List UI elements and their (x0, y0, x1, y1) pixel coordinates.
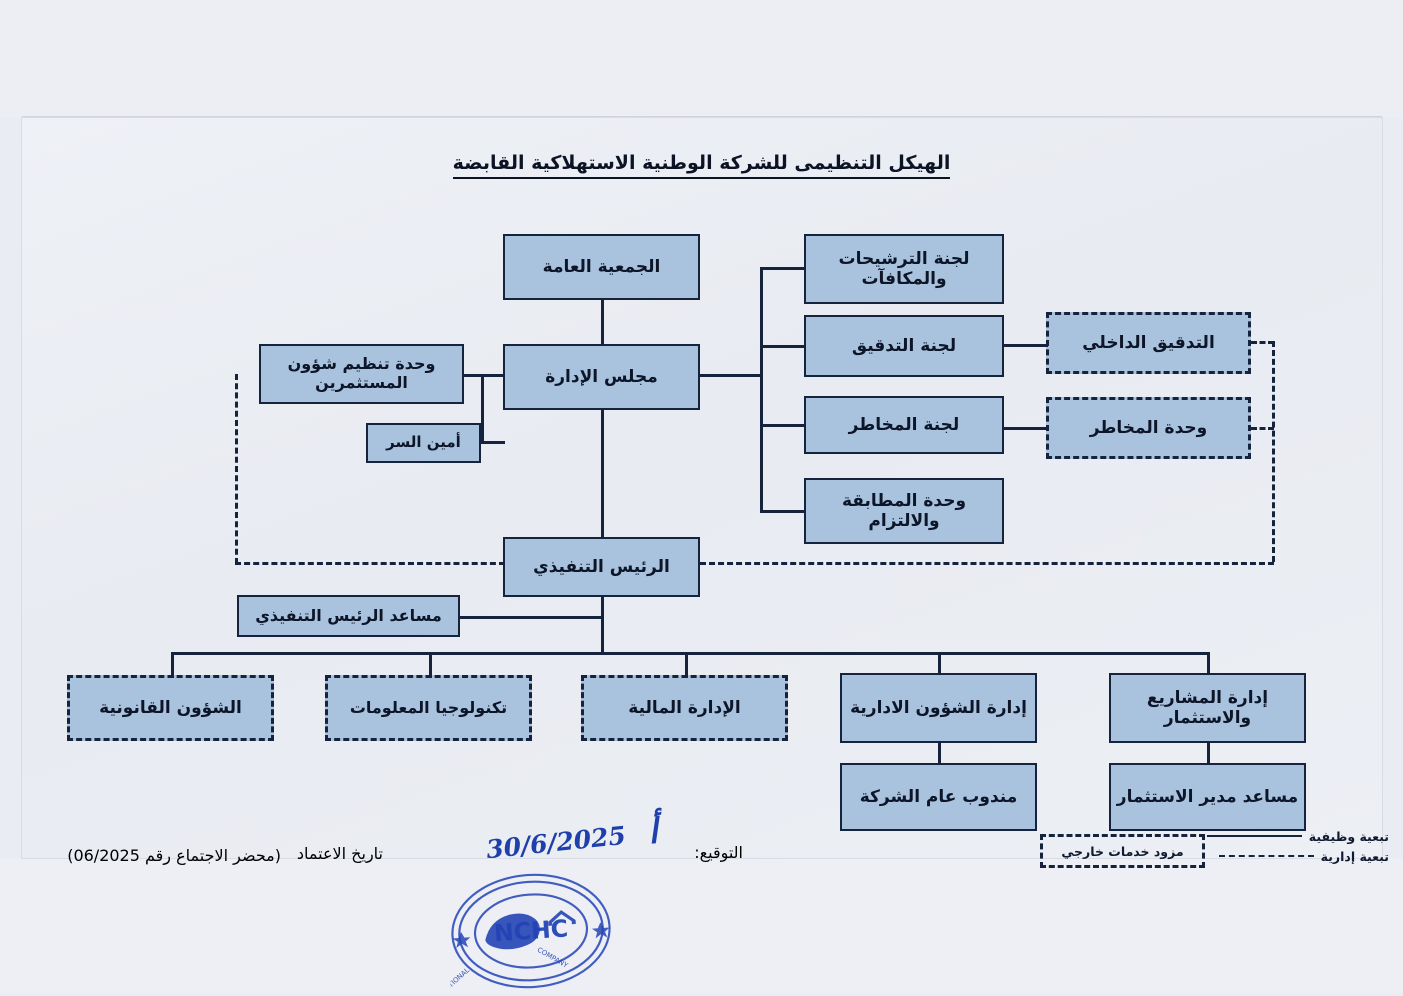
footer-minutes-reference: (محضر الاجتماع رقم 06/2025) (67, 846, 281, 865)
node-label: إدارة المشاريع والاستثمار (1115, 688, 1300, 728)
legend-external-provider-box: مزود خدمات خارجي (1040, 834, 1205, 868)
node-deputy-ceo[interactable]: مساعد الرئيس التنفيذي (237, 595, 460, 637)
node-administrative-affairs[interactable]: إدارة الشؤون الادارية (840, 673, 1037, 743)
node-label: وحدة تنظيم شؤون المستثمرين (265, 355, 458, 393)
connector-ga-to-board (601, 300, 604, 344)
node-finance-department[interactable]: الإدارة المالية (581, 675, 788, 741)
connector-board-secretary-horz (481, 441, 505, 444)
footer-approval-date-label: تاريخ الاعتماد (297, 844, 383, 863)
connector-board-to-investor-unit (464, 374, 505, 377)
connector-to-compliance-unit (760, 510, 806, 513)
node-audit-committee[interactable]: لجنة التدقيق (804, 315, 1004, 377)
connector-to-risk-committee (760, 424, 806, 427)
connector-drop-projects (1207, 652, 1210, 675)
node-nominations-committee[interactable]: لجنة الترشيحات والمكافآت (804, 234, 1004, 304)
legend: تبعية وظيفية تبعية إدارية (1189, 826, 1389, 866)
node-label: مساعد الرئيس التنفيذي (243, 607, 454, 626)
page-title: الهيكل التنظيمى للشركة الوطنية الاستهلاك… (0, 152, 1403, 174)
legend-row-functional: تبعية وظيفية (1189, 826, 1389, 846)
legend-label-functional: تبعية وظيفية (1309, 829, 1389, 844)
connector-admin-to-representative (938, 743, 941, 765)
connector-riskcommittee-to-riskunit (1004, 427, 1048, 430)
legend-label-external-provider: مزود خدمات خارجي (1061, 844, 1183, 859)
connector-board-secretary-vert (481, 374, 484, 443)
connector-drop-finance (685, 652, 688, 678)
connector-committees-trunk (760, 267, 763, 512)
node-label: إدارة الشؤون الادارية (846, 698, 1031, 718)
node-label: الشؤون القانونية (74, 698, 267, 718)
node-risk-committee[interactable]: لجنة المخاطر (804, 396, 1004, 454)
node-label: وحدة المطابقة والالتزام (810, 491, 998, 531)
node-label: مساعد مدير الاستثمار (1115, 787, 1300, 807)
node-label: أمين السر (372, 434, 475, 452)
connector-board-right-stub (700, 374, 762, 377)
node-label: تكنولوجيا المعلومات (332, 699, 525, 718)
dashed-risk-unit-stub (1251, 427, 1274, 430)
footer-signature-label: التوقيع: (694, 843, 743, 862)
connector-audit-to-internal-audit (1004, 344, 1048, 347)
node-assistant-investment-manager[interactable]: مساعد مدير الاستثمار (1109, 763, 1306, 831)
node-risk-unit[interactable]: وحدة المخاطر (1046, 397, 1251, 459)
node-label: وحدة المخاطر (1053, 418, 1244, 438)
node-projects-investment[interactable]: إدارة المشاريع والاستثمار (1109, 673, 1306, 743)
dashed-investor-unit-horizontal (235, 562, 505, 565)
svg-text:COMPANY: COMPANY (536, 946, 570, 970)
connector-drop-admin (938, 652, 941, 675)
node-label: مجلس الإدارة (509, 367, 694, 387)
connector-departments-bus (171, 652, 1208, 655)
node-label: الرئيس التنفيذي (509, 557, 694, 577)
dashed-internal-audit-stub (1251, 341, 1274, 344)
node-secretary[interactable]: أمين السر (366, 423, 481, 463)
node-investor-affairs-unit[interactable]: وحدة تنظيم شؤون المستثمرين (259, 344, 464, 404)
stamp-acronym-text: NCHC (493, 914, 569, 947)
dashed-assurance-rail-vertical (1272, 341, 1275, 562)
node-company-representative[interactable]: مندوب عام الشركة (840, 763, 1037, 831)
node-label: الإدارة المالية (588, 698, 781, 718)
org-chart-canvas: الهيكل التنظيمى للشركة الوطنية الاستهلاك… (0, 0, 1403, 993)
dashed-investor-unit-vertical (235, 374, 238, 564)
node-information-technology[interactable]: تكنولوجيا المعلومات (325, 675, 532, 741)
connector-to-audit-committee (760, 345, 806, 348)
node-label: لجنة التدقيق (810, 336, 998, 356)
connector-ceo-to-deputy (460, 616, 603, 619)
connector-board-to-ceo (601, 410, 604, 537)
connector-ceo-down-trunk (601, 597, 604, 652)
node-ceo[interactable]: الرئيس التنفيذي (503, 537, 700, 597)
connector-drop-legal (171, 652, 174, 678)
node-label: لجنة المخاطر (810, 415, 998, 435)
connector-to-nominations (760, 267, 806, 270)
node-internal-audit[interactable]: التدقيق الداخلي (1046, 312, 1251, 374)
legend-row-administrative: تبعية إدارية (1189, 846, 1389, 866)
legend-dashed-line-icon (1219, 855, 1314, 857)
node-board-of-directors[interactable]: مجلس الإدارة (503, 344, 700, 410)
connector-projects-to-assistant (1207, 743, 1210, 765)
node-label: الجمعية العامة (509, 257, 694, 277)
node-label: مندوب عام الشركة (846, 787, 1031, 807)
node-label: لجنة الترشيحات والمكافآت (810, 249, 998, 289)
node-legal-affairs[interactable]: الشؤون القانونية (67, 675, 274, 741)
node-general-assembly[interactable]: الجمعية العامة (503, 234, 700, 300)
dashed-assurance-to-ceo (700, 562, 1274, 565)
legend-label-administrative: تبعية إدارية (1321, 849, 1389, 864)
connector-drop-it (429, 652, 432, 678)
legend-solid-line-icon (1207, 835, 1302, 838)
svg-text:NATIONAL: NATIONAL (443, 966, 471, 995)
node-label: التدقيق الداخلي (1053, 333, 1244, 353)
page-title-text: الهيكل التنظيمى للشركة الوطنية الاستهلاك… (453, 152, 951, 179)
node-compliance-unit[interactable]: وحدة المطابقة والالتزام (804, 478, 1004, 544)
